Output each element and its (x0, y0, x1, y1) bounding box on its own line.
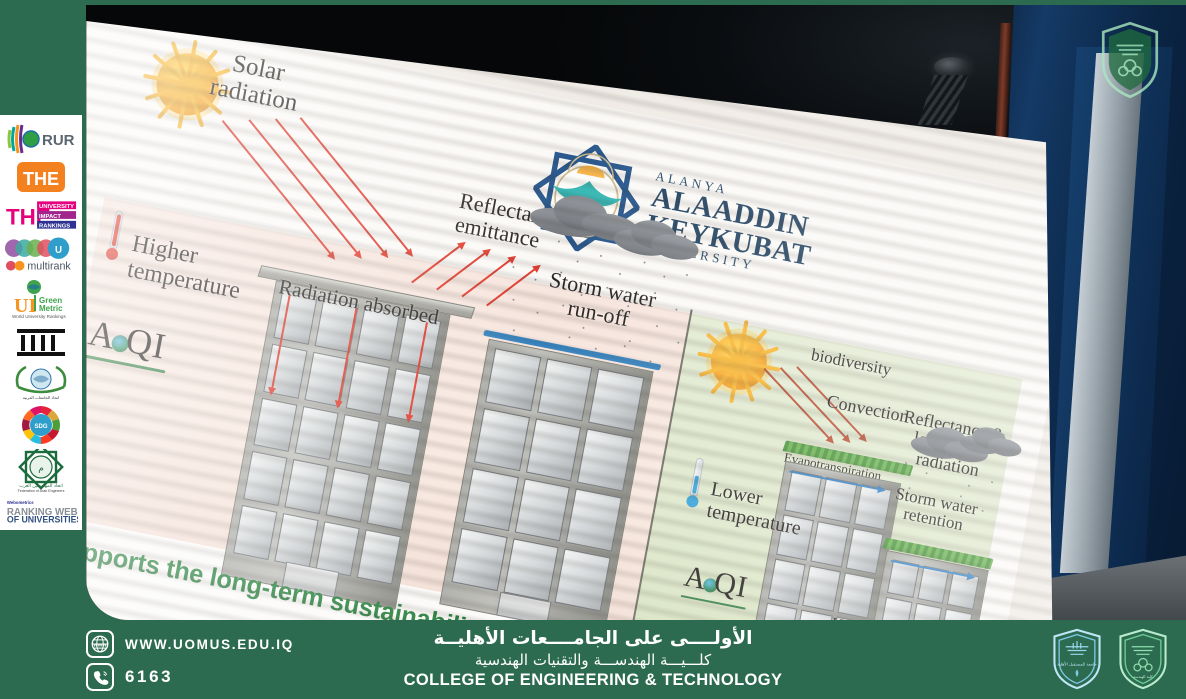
sidebar-badge-the-impact[interactable]: THE UNIVERSITY IMPACT RANKINGS (4, 197, 78, 232)
ceiling-spotlight-icon (934, 57, 970, 77)
footer-logos: جامعة المستقبل الأهلية كلية الهندسة (1048, 628, 1172, 695)
aqi-globe-icon (702, 577, 718, 593)
window (514, 478, 570, 541)
window (588, 369, 644, 432)
window (243, 451, 287, 506)
window (336, 414, 380, 469)
svg-text:م: م (38, 464, 44, 474)
window (526, 418, 582, 481)
federation-arab-engineers-logo: م اتحاد المهندسين العرب Federation of Ar… (6, 449, 76, 493)
footer-english-line: COLLEGE OF ENGINEERING & TECHNOLOGY (0, 671, 1186, 690)
sidebar-badge-fae[interactable]: م اتحاد المهندسين العرب Federation of Ar… (4, 449, 78, 493)
window (503, 538, 559, 601)
window (802, 565, 840, 611)
page-footer: www WWW.UOMUS.EDU.IQ 6163 الأولــــى على… (0, 620, 1186, 699)
al-mustaqbal-university-shield: جامعة المستقبل الأهلية (1048, 628, 1106, 695)
svg-text:Webometrics: Webometrics (7, 500, 34, 505)
presentation-photo: ALANYA ALAADDIN KEYKUBAT UNIVERSITY (86, 5, 1186, 620)
window (274, 513, 318, 568)
sidebar-badge-temple[interactable] (4, 323, 78, 358)
sidebar-badge-rur[interactable]: RUR (4, 121, 78, 156)
sidebar-badge-webometrics[interactable]: Webometrics RANKING WEB OF UNIVERSITIES (4, 496, 78, 524)
window (294, 406, 338, 461)
thermometer-bulb (105, 247, 119, 261)
window (485, 348, 541, 411)
association-arab-universities-logo: اتحاد الجامعات العربية (6, 361, 76, 401)
classical-temple-icon (11, 324, 71, 358)
svg-text:Federation of Arab Engineers: Federation of Arab Engineers (18, 489, 65, 493)
window (233, 505, 277, 560)
u-multirank-logo: U multirank (4, 235, 78, 275)
svg-text:جامعة المستقبل الأهلية: جامعة المستقبل الأهلية (1057, 662, 1097, 667)
svg-text:RANKINGS: RANKINGS (39, 223, 70, 229)
svg-text:OF UNIVERSITIES: OF UNIVERSITIES (7, 515, 78, 524)
svg-text:كلية الهندسة: كلية الهندسة (1133, 675, 1153, 679)
window (346, 360, 390, 415)
footer-arabic-line-1: الأولــــى على الجامــــعات الأهليــة (0, 627, 1186, 650)
svg-text:SDG: SDG (34, 424, 47, 430)
sidebar-badge-sdg[interactable]: SDG (4, 404, 78, 446)
svg-text:multirank: multirank (27, 261, 71, 273)
the-impact-rankings-logo: THE UNIVERSITY IMPACT RANKINGS (4, 198, 78, 232)
window (555, 548, 611, 611)
window (451, 528, 507, 591)
sun-rays (690, 312, 788, 411)
ui-greenmetric-logo: UI Green Metric World University Ranking… (4, 278, 78, 320)
sidebar-badge-multirank[interactable]: U multirank (4, 235, 78, 275)
webometrics-logo: Webometrics RANKING WEB OF UNIVERSITIES (4, 496, 78, 524)
svg-text:RUR: RUR (42, 132, 75, 149)
window (253, 397, 297, 452)
svg-text:UNIVERSITY: UNIVERSITY (39, 204, 74, 210)
aqi-globe-icon (110, 334, 130, 354)
svg-text:اتحاد الجامعات العربية: اتحاد الجامعات العربية (23, 395, 59, 400)
window (474, 408, 530, 471)
sustainable-development-goals-wheel-icon: SDG (19, 404, 63, 446)
window (940, 609, 972, 620)
svg-text:World University Rankings: World University Rankings (12, 314, 66, 319)
college-engineering-shield: كلية الهندسة (1114, 628, 1172, 695)
sidebar-badge-aaru[interactable]: اتحاد الجامعات العربية (4, 361, 78, 401)
footer-college-titles: الأولــــى على الجامــــعات الأهليــة كل… (0, 627, 1186, 690)
window (768, 559, 806, 605)
svg-text:Metric: Metric (39, 304, 63, 313)
svg-text:THE: THE (23, 169, 59, 189)
sidebar-badge-uigreenmetric[interactable]: UI Green Metric World University Ranking… (4, 278, 78, 320)
window (463, 468, 519, 531)
sun-icon-right (706, 329, 771, 395)
page-frame: ALANYA ALAADDIN KEYKUBAT UNIVERSITY (0, 0, 1186, 699)
university-shield-icon (1096, 21, 1164, 99)
window (537, 358, 593, 421)
window (326, 468, 370, 523)
times-higher-education-logo: THE (11, 160, 71, 194)
window (910, 603, 942, 620)
svg-text:IMPACT: IMPACT (39, 213, 61, 219)
rankings-sidebar: RUR THE THE UNIVERSITY IMPACT RANKINGS (0, 115, 82, 530)
window (880, 597, 912, 620)
rur-ranking-logo: RUR (4, 122, 78, 156)
window (566, 489, 622, 552)
window (577, 429, 633, 492)
sidebar-badge-the[interactable]: THE (4, 159, 78, 194)
window (284, 459, 328, 514)
footer-arabic-line-2: كلـــيـــة الهندســـة والتقنيات الهندسية (0, 650, 1186, 670)
svg-text:U: U (55, 245, 62, 256)
